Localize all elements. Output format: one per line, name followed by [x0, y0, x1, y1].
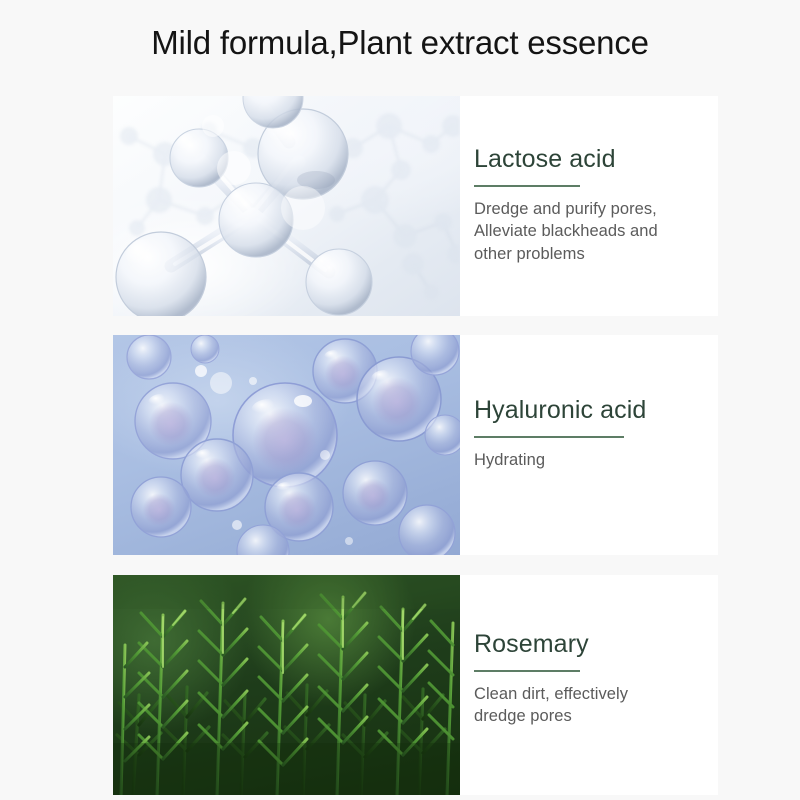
ingredient-text-rosemary: Rosemary Clean dirt, effectively dredge … [460, 575, 718, 795]
title-divider [474, 185, 580, 187]
description-line: Clean dirt, effectively [474, 683, 718, 706]
rosemary-illustration [113, 575, 460, 795]
ingredient-image-hyaluronic-acid [113, 335, 460, 555]
ingredient-name: Hyaluronic acid [474, 397, 646, 425]
ingredient-image-lactose-acid [113, 96, 460, 316]
molecule-illustration [113, 96, 460, 316]
title-divider [474, 670, 580, 672]
description-line: dredge pores [474, 705, 718, 728]
ingredient-card-rosemary: Rosemary Clean dirt, effectively dredge … [113, 575, 718, 795]
ingredient-text-hyaluronic-acid: Hyaluronic acid Hydrating [460, 335, 718, 555]
description-line: Dredge and purify pores, [474, 198, 718, 221]
ingredient-description: Dredge and purify pores, Alleviate black… [474, 198, 718, 266]
ingredient-image-rosemary [113, 575, 460, 795]
ingredient-description: Clean dirt, effectively dredge pores [474, 683, 718, 728]
rosemary-plant-icon [113, 575, 460, 795]
molecule-foreground-icon [113, 96, 460, 316]
ingredient-name: Rosemary [474, 631, 589, 659]
ingredient-name: Lactose acid [474, 146, 616, 174]
description-line: Alleviate blackheads and [474, 220, 718, 243]
water-bubbles-icon [113, 335, 460, 555]
ingredient-description: Hydrating [474, 449, 718, 472]
title-divider [474, 436, 624, 438]
page-title: Mild formula,Plant extract essence [0, 24, 800, 62]
ingredient-card-lactose-acid: Lactose acid Dredge and purify pores, Al… [113, 96, 718, 316]
infographic-page: Mild formula,Plant extract essence [0, 0, 800, 800]
ingredient-card-hyaluronic-acid: Hyaluronic acid Hydrating [113, 335, 718, 555]
ingredient-text-lactose-acid: Lactose acid Dredge and purify pores, Al… [460, 96, 718, 316]
description-line: Hydrating [474, 449, 718, 472]
description-line: other problems [474, 243, 718, 266]
bubbles-illustration [113, 335, 460, 555]
